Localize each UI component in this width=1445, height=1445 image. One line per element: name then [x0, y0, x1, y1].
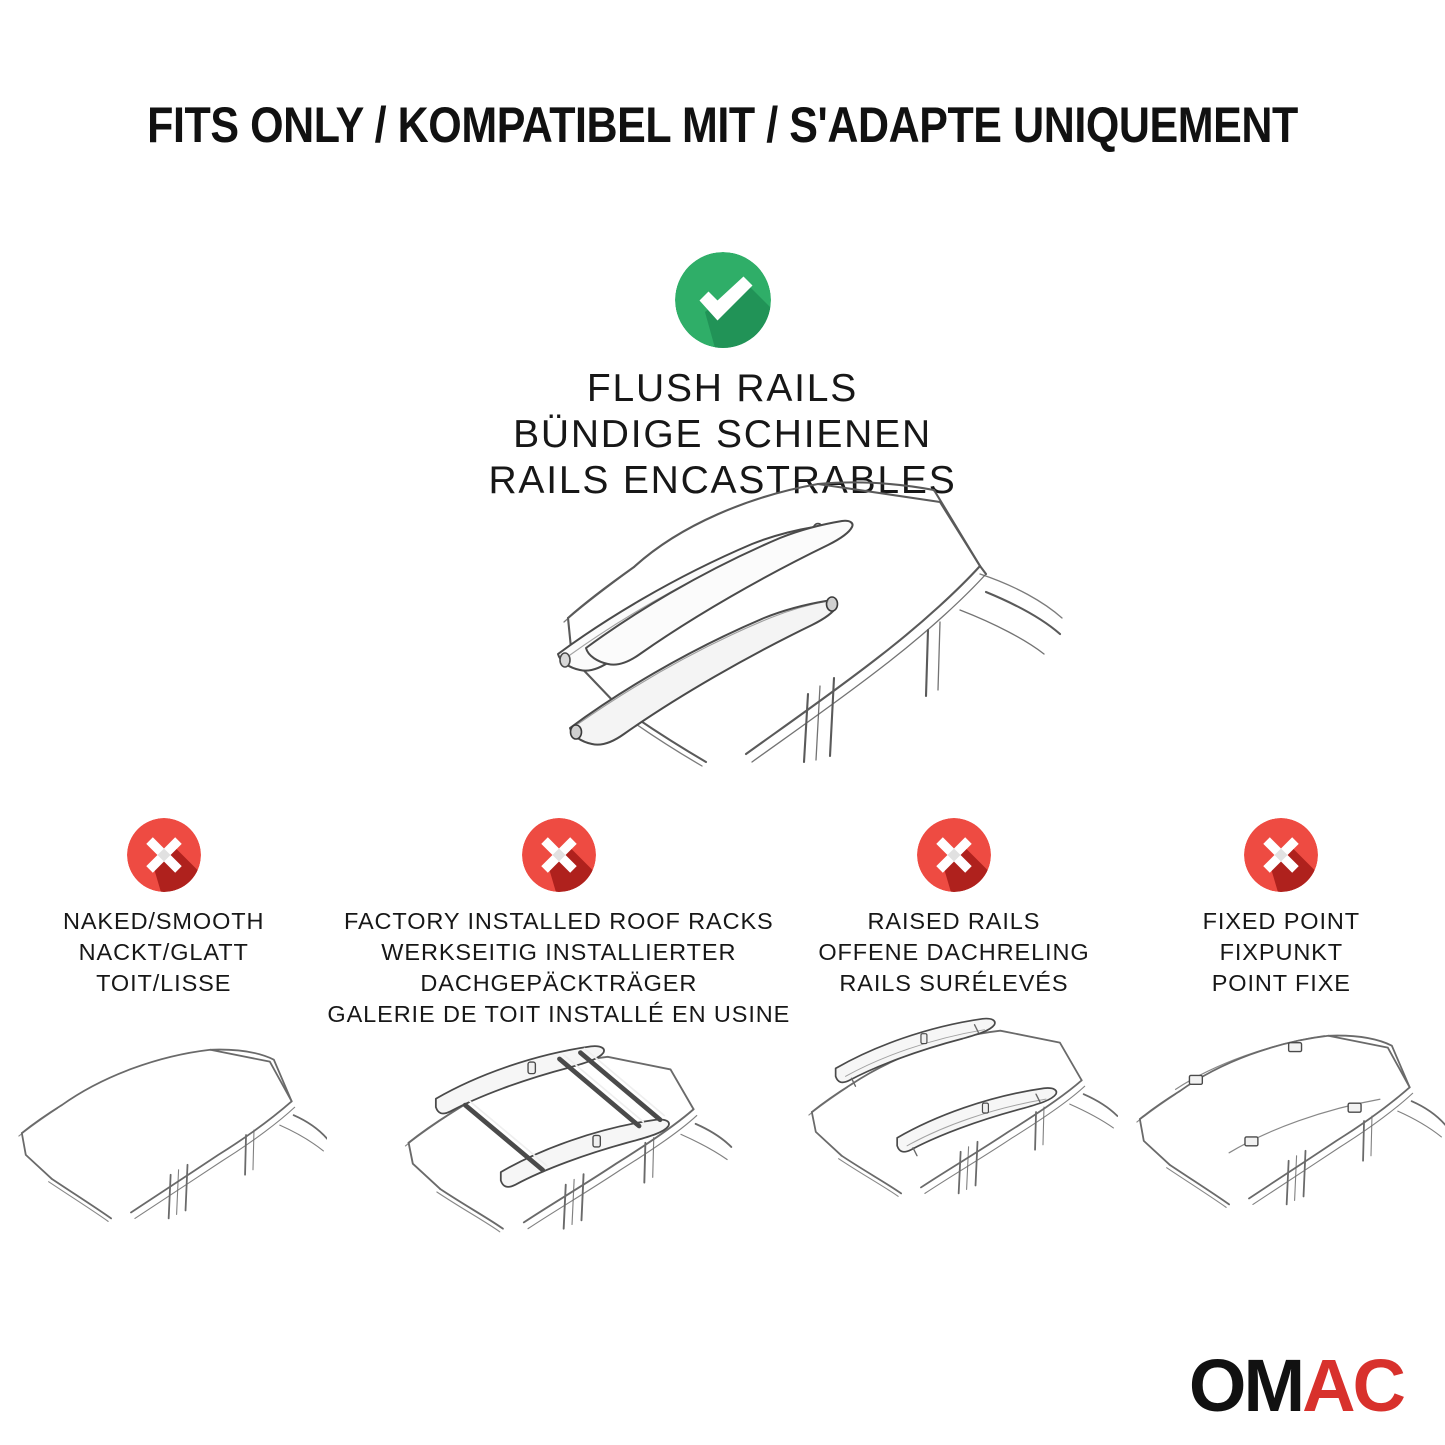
incompatible-labels-naked-smooth: NAKED/SMOOTH NACKT/GLATT TOIT/LISSE	[0, 906, 327, 999]
car-roof-raised-rails-illustration	[790, 1007, 1117, 1227]
cross-circle-icon	[127, 818, 201, 892]
label-fr: TOIT/LISSE	[0, 968, 327, 999]
compatible-section: FLUSH RAILS BÜNDIGE SCHIENEN RAILS ENCAS…	[0, 252, 1445, 504]
car-roof-factory-racks-illustration	[327, 1038, 790, 1258]
compatible-label-de: BÜNDIGE SCHIENEN	[0, 412, 1445, 458]
incompatible-column-naked-smooth: NAKED/SMOOTH NACKT/GLATT TOIT/LISSE	[0, 818, 327, 1253]
page-header: FITS ONLY / KOMPATIBEL MIT / S'ADAPTE UN…	[0, 98, 1445, 153]
label-de: OFFENE DACHRELING	[790, 937, 1117, 968]
car-roof-fixed-point-illustration	[1118, 1019, 1445, 1239]
label-en: FIXED POINT	[1118, 906, 1445, 937]
label-de: NACKT/GLATT	[0, 937, 327, 968]
incompatible-column-raised-rails: RAISED RAILS OFFENE DACHRELING RAILS SUR…	[790, 818, 1117, 1227]
incompatible-column-fixed-point: FIXED POINT FIXPUNKT POINT FIXE	[1118, 818, 1445, 1239]
car-roof-naked-illustration	[0, 1033, 327, 1253]
label-fr: GALERIE DE TOIT INSTALLÉ EN USINE	[327, 999, 790, 1030]
car-roof-flush-rails-illustration	[420, 470, 1080, 770]
incompatible-sections: NAKED/SMOOTH NACKT/GLATT TOIT/LISSE	[0, 818, 1445, 1258]
label-de-2: DACHGEPÄCKTRÄGER	[327, 968, 790, 999]
label-fr: RAILS SURÉLEVÉS	[790, 968, 1117, 999]
cross-circle-icon	[917, 818, 991, 892]
label-en: RAISED RAILS	[790, 906, 1117, 937]
check-circle-icon	[675, 252, 771, 348]
label-en: NAKED/SMOOTH	[0, 906, 327, 937]
compatible-label-en: FLUSH RAILS	[0, 366, 1445, 412]
incompatible-labels-factory-racks: FACTORY INSTALLED ROOF RACKS WERKSEITIG …	[327, 906, 790, 1030]
label-en: FACTORY INSTALLED ROOF RACKS	[327, 906, 790, 937]
incompatible-labels-raised-rails: RAISED RAILS OFFENE DACHRELING RAILS SUR…	[790, 906, 1117, 999]
label-de-1: WERKSEITIG INSTALLIERTER	[327, 937, 790, 968]
cross-circle-icon	[522, 818, 596, 892]
page-title: FITS ONLY / KOMPATIBEL MIT / S'ADAPTE UN…	[101, 98, 1344, 153]
omac-logo: OMAC	[1189, 1349, 1403, 1423]
label-fr: POINT FIXE	[1118, 968, 1445, 999]
label-de: FIXPUNKT	[1118, 937, 1445, 968]
logo-text-dark: OM	[1189, 1344, 1302, 1427]
logo-text-accent: AC	[1302, 1344, 1403, 1427]
incompatible-column-factory-racks: FACTORY INSTALLED ROOF RACKS WERKSEITIG …	[327, 818, 790, 1258]
incompatible-labels-fixed-point: FIXED POINT FIXPUNKT POINT FIXE	[1118, 906, 1445, 999]
cross-circle-icon	[1244, 818, 1318, 892]
